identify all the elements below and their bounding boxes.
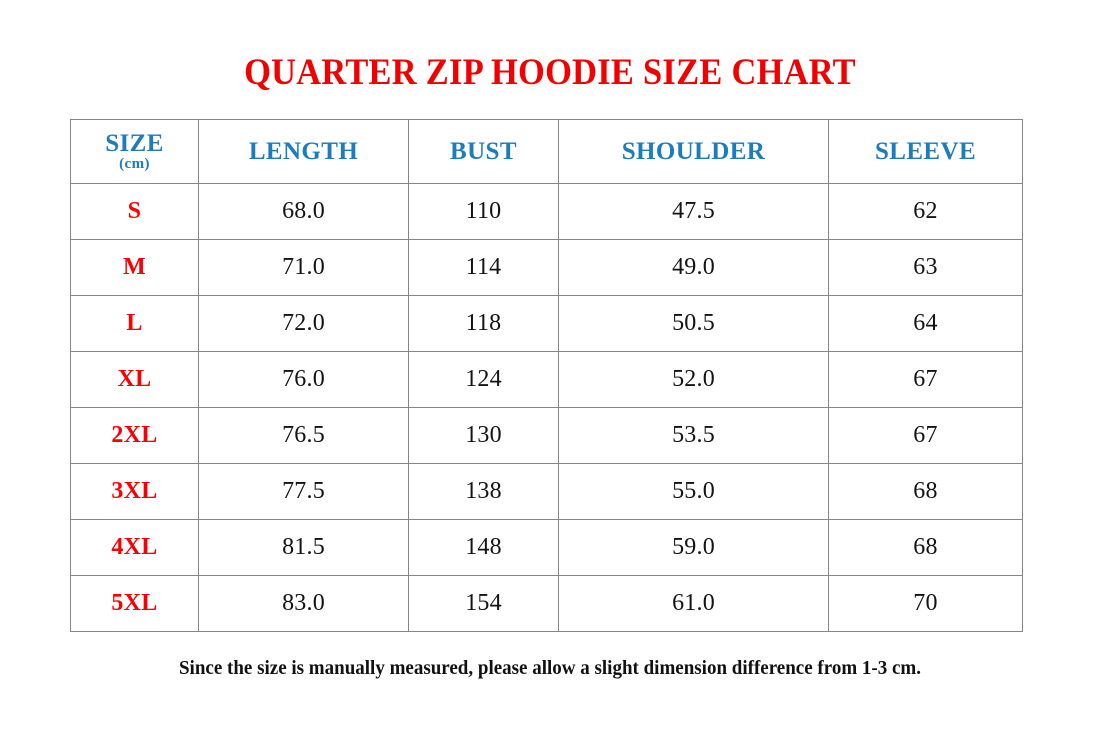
- cell-sleeve: 64: [829, 296, 1023, 352]
- column-header-shoulder-label: SHOULDER: [559, 138, 828, 165]
- table-row: L 72.0 118 50.5 64: [71, 296, 1023, 352]
- cell-bust: 110: [409, 184, 559, 240]
- cell-size: 4XL: [71, 520, 199, 576]
- cell-shoulder: 47.5: [559, 184, 829, 240]
- cell-shoulder: 49.0: [559, 240, 829, 296]
- cell-sleeve: 62: [829, 184, 1023, 240]
- page-title: QUARTER ZIP HOODIE SIZE CHART: [39, 52, 1062, 94]
- cell-size: 3XL: [71, 464, 199, 520]
- table-header: SIZE (cm) LENGTH BUST SHOULDER SLEEVE: [71, 120, 1023, 184]
- cell-size: XL: [71, 352, 199, 408]
- column-header-bust: BUST: [409, 120, 559, 184]
- cell-bust: 118: [409, 296, 559, 352]
- column-header-bust-label: BUST: [409, 138, 558, 165]
- cell-size: 2XL: [71, 408, 199, 464]
- cell-bust: 138: [409, 464, 559, 520]
- table-row: 2XL 76.5 130 53.5 67: [71, 408, 1023, 464]
- cell-length: 81.5: [199, 520, 409, 576]
- table-row: S 68.0 110 47.5 62: [71, 184, 1023, 240]
- cell-shoulder: 55.0: [559, 464, 829, 520]
- table-row: M 71.0 114 49.0 63: [71, 240, 1023, 296]
- cell-length: 76.0: [199, 352, 409, 408]
- column-header-sleeve: SLEEVE: [829, 120, 1023, 184]
- cell-length: 72.0: [199, 296, 409, 352]
- table-row: 4XL 81.5 148 59.0 68: [71, 520, 1023, 576]
- cell-shoulder: 52.0: [559, 352, 829, 408]
- cell-bust: 114: [409, 240, 559, 296]
- cell-bust: 124: [409, 352, 559, 408]
- cell-size: M: [71, 240, 199, 296]
- table-header-row: SIZE (cm) LENGTH BUST SHOULDER SLEEVE: [71, 120, 1023, 184]
- column-header-sleeve-label: SLEEVE: [829, 138, 1022, 165]
- cell-sleeve: 68: [829, 520, 1023, 576]
- cell-shoulder: 61.0: [559, 576, 829, 632]
- column-header-size-unit: (cm): [71, 156, 198, 173]
- table-row: 5XL 83.0 154 61.0 70: [71, 576, 1023, 632]
- cell-sleeve: 67: [829, 408, 1023, 464]
- cell-bust: 130: [409, 408, 559, 464]
- cell-shoulder: 53.5: [559, 408, 829, 464]
- cell-length: 77.5: [199, 464, 409, 520]
- table-row: 3XL 77.5 138 55.0 68: [71, 464, 1023, 520]
- measurement-disclaimer: Since the size is manually measured, ple…: [28, 656, 1073, 680]
- cell-shoulder: 50.5: [559, 296, 829, 352]
- size-chart-table-wrapper: SIZE (cm) LENGTH BUST SHOULDER SLEEVE: [70, 119, 1022, 632]
- column-header-shoulder: SHOULDER: [559, 120, 829, 184]
- cell-sleeve: 63: [829, 240, 1023, 296]
- size-chart-table: SIZE (cm) LENGTH BUST SHOULDER SLEEVE: [70, 119, 1023, 632]
- cell-size: S: [71, 184, 199, 240]
- cell-sleeve: 68: [829, 464, 1023, 520]
- cell-shoulder: 59.0: [559, 520, 829, 576]
- column-header-length: LENGTH: [199, 120, 409, 184]
- size-chart-page: QUARTER ZIP HOODIE SIZE CHART SIZE (cm) …: [0, 0, 1100, 755]
- cell-length: 68.0: [199, 184, 409, 240]
- cell-sleeve: 70: [829, 576, 1023, 632]
- cell-length: 71.0: [199, 240, 409, 296]
- column-header-length-label: LENGTH: [199, 138, 408, 165]
- column-header-size-label: SIZE: [71, 130, 198, 157]
- table-body: S 68.0 110 47.5 62 M 71.0 114 49.0 63 L …: [71, 184, 1023, 632]
- cell-size: L: [71, 296, 199, 352]
- cell-length: 76.5: [199, 408, 409, 464]
- cell-length: 83.0: [199, 576, 409, 632]
- cell-bust: 154: [409, 576, 559, 632]
- cell-size: 5XL: [71, 576, 199, 632]
- cell-sleeve: 67: [829, 352, 1023, 408]
- table-row: XL 76.0 124 52.0 67: [71, 352, 1023, 408]
- column-header-size: SIZE (cm): [71, 120, 199, 184]
- cell-bust: 148: [409, 520, 559, 576]
